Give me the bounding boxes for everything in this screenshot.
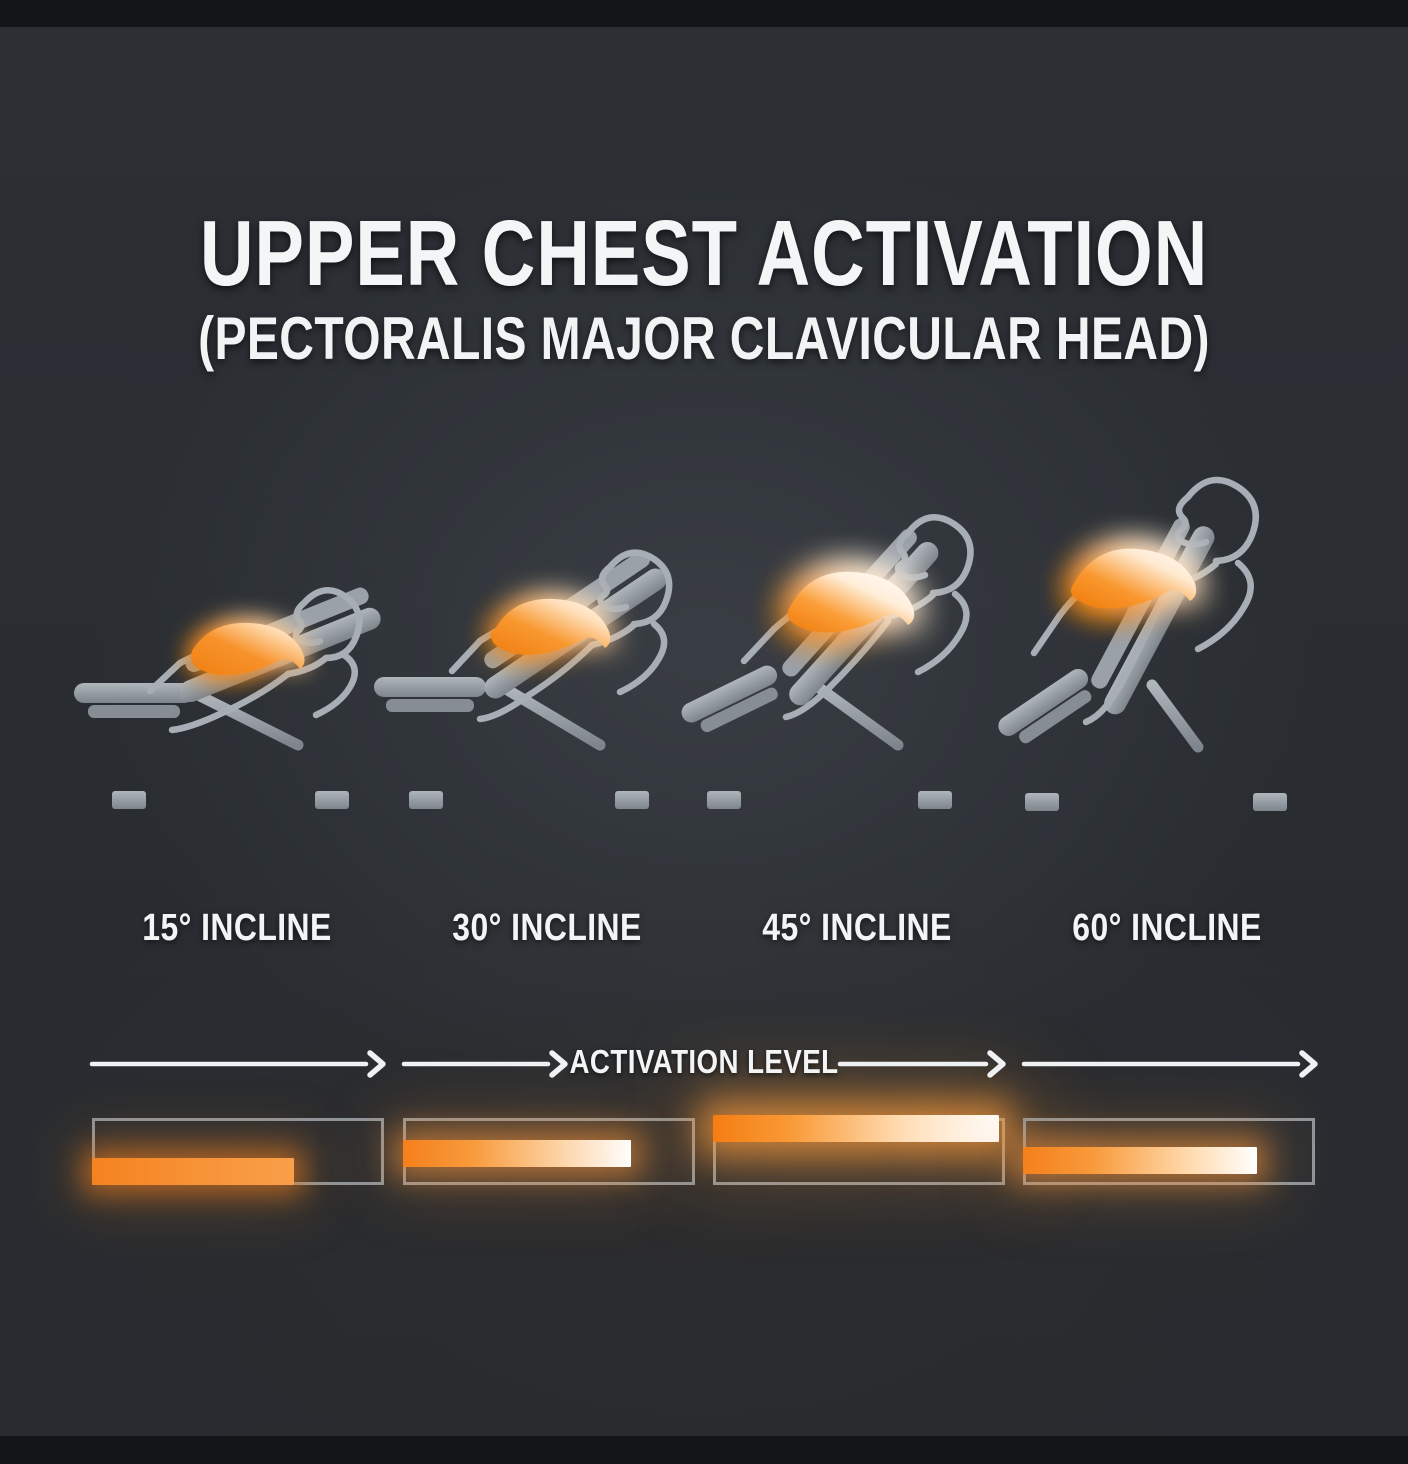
meter-fill-45 xyxy=(713,1115,999,1142)
right-arrow-icon-4-head xyxy=(1302,1053,1315,1075)
bench-seat-pad xyxy=(74,683,194,718)
incline-label-30: 30° INCLINE xyxy=(408,905,685,951)
bench-foot-left xyxy=(409,791,443,809)
bench-foot-left xyxy=(707,791,741,809)
letterbox-top xyxy=(0,0,1408,27)
bench-foot-right xyxy=(1253,793,1287,811)
incline-label-15: 15° INCLINE xyxy=(98,905,375,951)
bench-base xyxy=(120,745,340,795)
activation-meter-row xyxy=(0,1100,1408,1210)
bench-foot-left xyxy=(112,791,146,809)
activation-arrow-strip: ACTIVATION LEVEL xyxy=(0,1036,1408,1092)
meter-fill-60 xyxy=(1023,1147,1257,1174)
page-title: UPPER CHEST ACTIVATION xyxy=(141,205,1267,301)
bench-figure-incline-30 xyxy=(382,455,712,880)
bench-illustration-row xyxy=(0,455,1408,880)
bench-base xyxy=(715,745,943,795)
activation-level-caption: ACTIVATION LEVEL xyxy=(113,1036,1296,1088)
activation-meter-30 xyxy=(391,1100,721,1210)
bench-figure-incline-45 xyxy=(692,455,1022,880)
infographic-canvas: UPPER CHEST ACTIVATION (PECTORALIS MAJOR… xyxy=(0,0,1408,1464)
activation-meter-60 xyxy=(1011,1100,1341,1210)
letterbox-bottom xyxy=(0,1436,1408,1464)
bench-foot-left xyxy=(1025,793,1059,811)
bench-figure-incline-15 xyxy=(72,455,402,880)
meter-fill-15 xyxy=(92,1158,294,1185)
bench-seat-pad xyxy=(374,677,486,712)
title-block: UPPER CHEST ACTIVATION (PECTORALIS MAJOR… xyxy=(0,205,1408,371)
bench-foot-right xyxy=(615,791,649,809)
incline-label-row: 15° INCLINE 30° INCLINE 45° INCLINE 60° … xyxy=(0,905,1408,961)
bench-foot-right xyxy=(918,791,952,809)
incline-label-60: 60° INCLINE xyxy=(1028,905,1305,951)
bench-frame xyxy=(168,696,298,745)
bench-foot-right xyxy=(315,791,349,809)
page-subtitle: (PECTORALIS MAJOR CLAVICULAR HEAD) xyxy=(141,307,1267,371)
bench-figure-incline-60 xyxy=(1002,455,1332,880)
bench-seat-pad xyxy=(995,665,1101,752)
activation-meter-45 xyxy=(701,1100,1031,1210)
bench-base xyxy=(417,745,640,795)
bench-base xyxy=(1033,747,1278,797)
incline-label-45: 45° INCLINE xyxy=(718,905,995,951)
meter-fill-30 xyxy=(403,1140,631,1167)
activation-meter-15 xyxy=(80,1100,410,1210)
